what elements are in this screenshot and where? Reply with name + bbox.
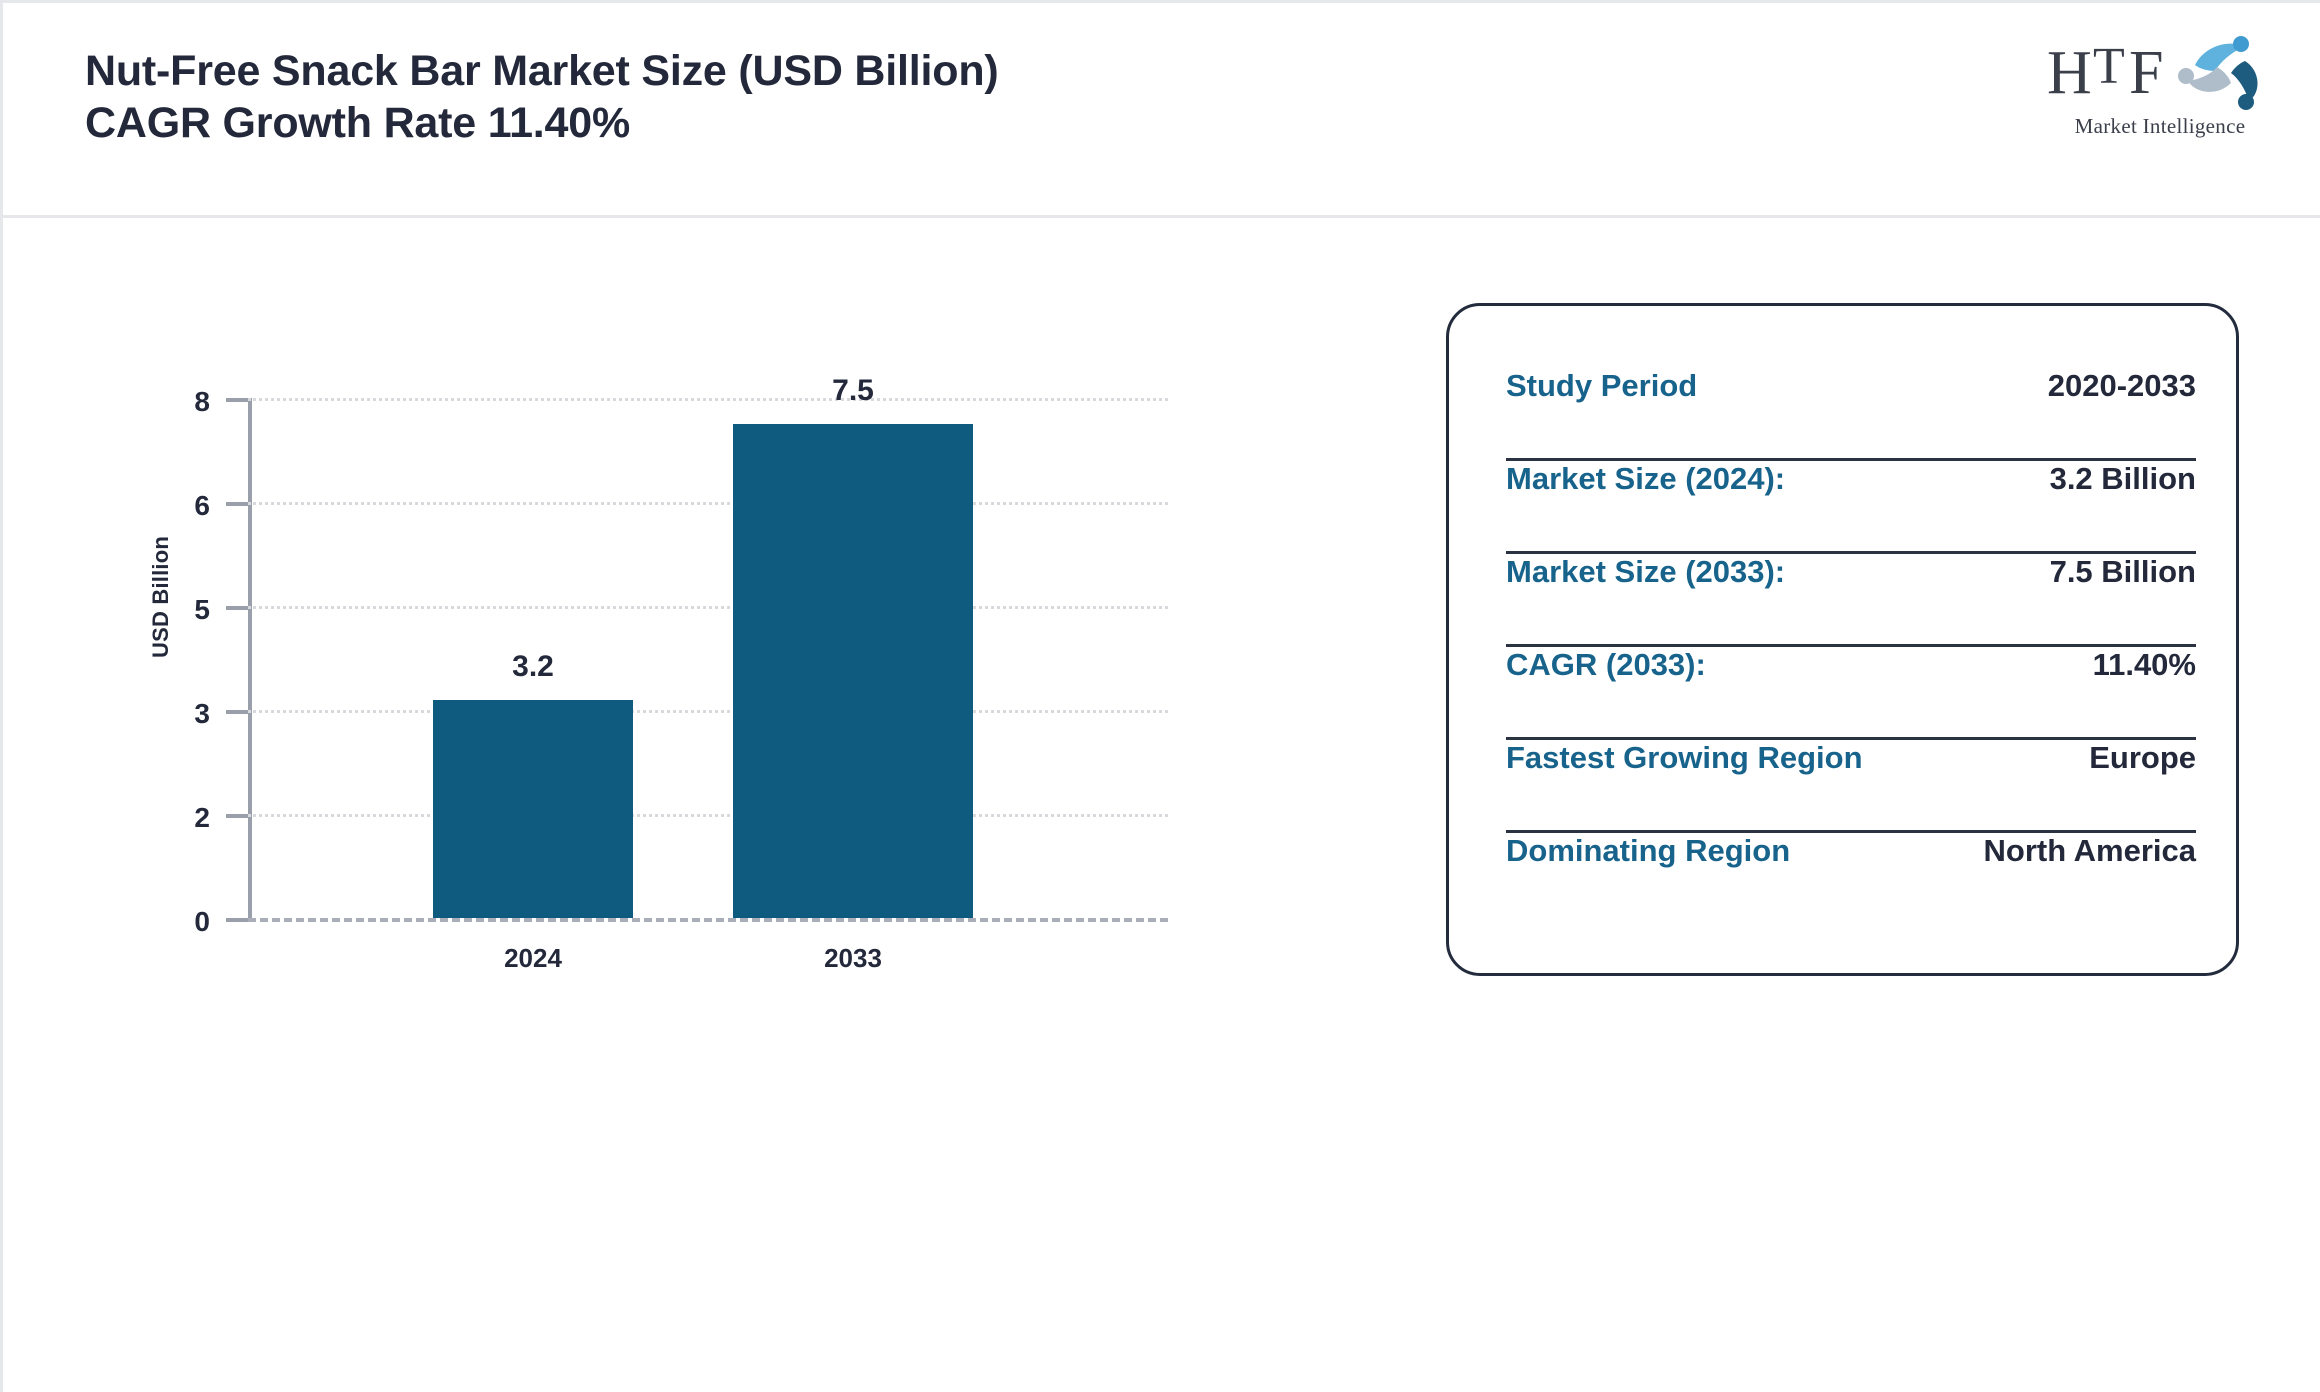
summary-row-value: North America bbox=[1984, 833, 2196, 869]
summary-rows: Study Period2020-2033Market Size (2024):… bbox=[1506, 368, 2196, 926]
page-header: Nut-Free Snack Bar Market Size (USD Bill… bbox=[3, 3, 2320, 218]
x-axis-tick-label: 2033 bbox=[824, 943, 882, 974]
infographic-page: Nut-Free Snack Bar Market Size (USD Bill… bbox=[0, 0, 2320, 1392]
y-axis-tick-label: 2 bbox=[194, 802, 210, 834]
y-axis-tick: 0 bbox=[226, 918, 248, 922]
gridline bbox=[248, 502, 1168, 505]
summary-row: Market Size (2033):7.5 Billion bbox=[1506, 554, 2196, 647]
htf-logo-mark-icon: H T F bbox=[2045, 31, 2275, 111]
summary-row-value: 11.40% bbox=[2093, 647, 2196, 683]
summary-row: Dominating RegionNorth America bbox=[1506, 833, 2196, 926]
y-axis-tick-label: 5 bbox=[194, 594, 210, 626]
svg-text:F: F bbox=[2129, 39, 2163, 107]
y-axis-spine bbox=[248, 398, 252, 918]
bar: 3.2 bbox=[433, 700, 633, 918]
logo-tagline: Market Intelligence bbox=[2045, 114, 2275, 139]
summary-row-key: Market Size (2033): bbox=[1506, 554, 1785, 590]
summary-row-key: Dominating Region bbox=[1506, 833, 1790, 869]
page-title: Nut-Free Snack Bar Market Size (USD Bill… bbox=[85, 45, 999, 150]
summary-row-value: 2020-2033 bbox=[2048, 368, 2196, 404]
y-axis-tick: 2 bbox=[226, 814, 248, 818]
y-axis-label: USD Billion bbox=[148, 536, 174, 658]
bar: 7.5 bbox=[733, 424, 973, 918]
summary-row-value: 7.5 Billion bbox=[2050, 554, 2196, 590]
htf-logo: H T F Market Intelligence bbox=[2045, 31, 2275, 139]
summary-row: Study Period2020-2033 bbox=[1506, 368, 2196, 461]
gridline bbox=[248, 814, 1168, 817]
bar-value-label: 7.5 bbox=[832, 374, 874, 408]
bar-chart: USD Billion 0235683.220247.52033 bbox=[3, 218, 1403, 1392]
gridline bbox=[248, 918, 1168, 922]
summary-row-value: Europe bbox=[2089, 740, 2196, 776]
y-axis-tick-label: 6 bbox=[194, 490, 210, 522]
bar-value-label: 3.2 bbox=[512, 650, 554, 684]
x-axis-tick-label: 2024 bbox=[504, 943, 562, 974]
svg-text:T: T bbox=[2093, 38, 2125, 95]
summary-row: Market Size (2024):3.2 Billion bbox=[1506, 461, 2196, 554]
triskelion-people-icon bbox=[2178, 36, 2258, 110]
y-axis-tick: 6 bbox=[226, 502, 248, 506]
summary-row: Fastest Growing RegionEurope bbox=[1506, 740, 2196, 833]
summary-row-key: Study Period bbox=[1506, 368, 1697, 404]
summary-row-key: Fastest Growing Region bbox=[1506, 740, 1863, 776]
y-axis-tick-label: 0 bbox=[194, 906, 210, 938]
y-axis-tick: 8 bbox=[226, 398, 248, 402]
summary-row-key: CAGR (2033): bbox=[1506, 647, 1706, 683]
plot-area: 0235683.220247.52033 bbox=[248, 398, 1168, 918]
y-axis-tick: 5 bbox=[226, 606, 248, 610]
title-line-1: Nut-Free Snack Bar Market Size (USD Bill… bbox=[85, 45, 999, 97]
y-axis-tick: 3 bbox=[226, 710, 248, 714]
svg-text:H: H bbox=[2047, 39, 2092, 107]
gridline bbox=[248, 606, 1168, 609]
gridline bbox=[248, 398, 1168, 401]
summary-row-key: Market Size (2024): bbox=[1506, 461, 1785, 497]
summary-row: CAGR (2033):11.40% bbox=[1506, 647, 2196, 740]
y-axis-tick-label: 3 bbox=[194, 698, 210, 730]
title-line-2: CAGR Growth Rate 11.40% bbox=[85, 97, 999, 149]
summary-row-value: 3.2 Billion bbox=[2050, 461, 2196, 497]
y-axis-tick-label: 8 bbox=[194, 386, 210, 418]
gridline bbox=[248, 710, 1168, 713]
summary-panel: Study Period2020-2033Market Size (2024):… bbox=[1446, 303, 2239, 976]
